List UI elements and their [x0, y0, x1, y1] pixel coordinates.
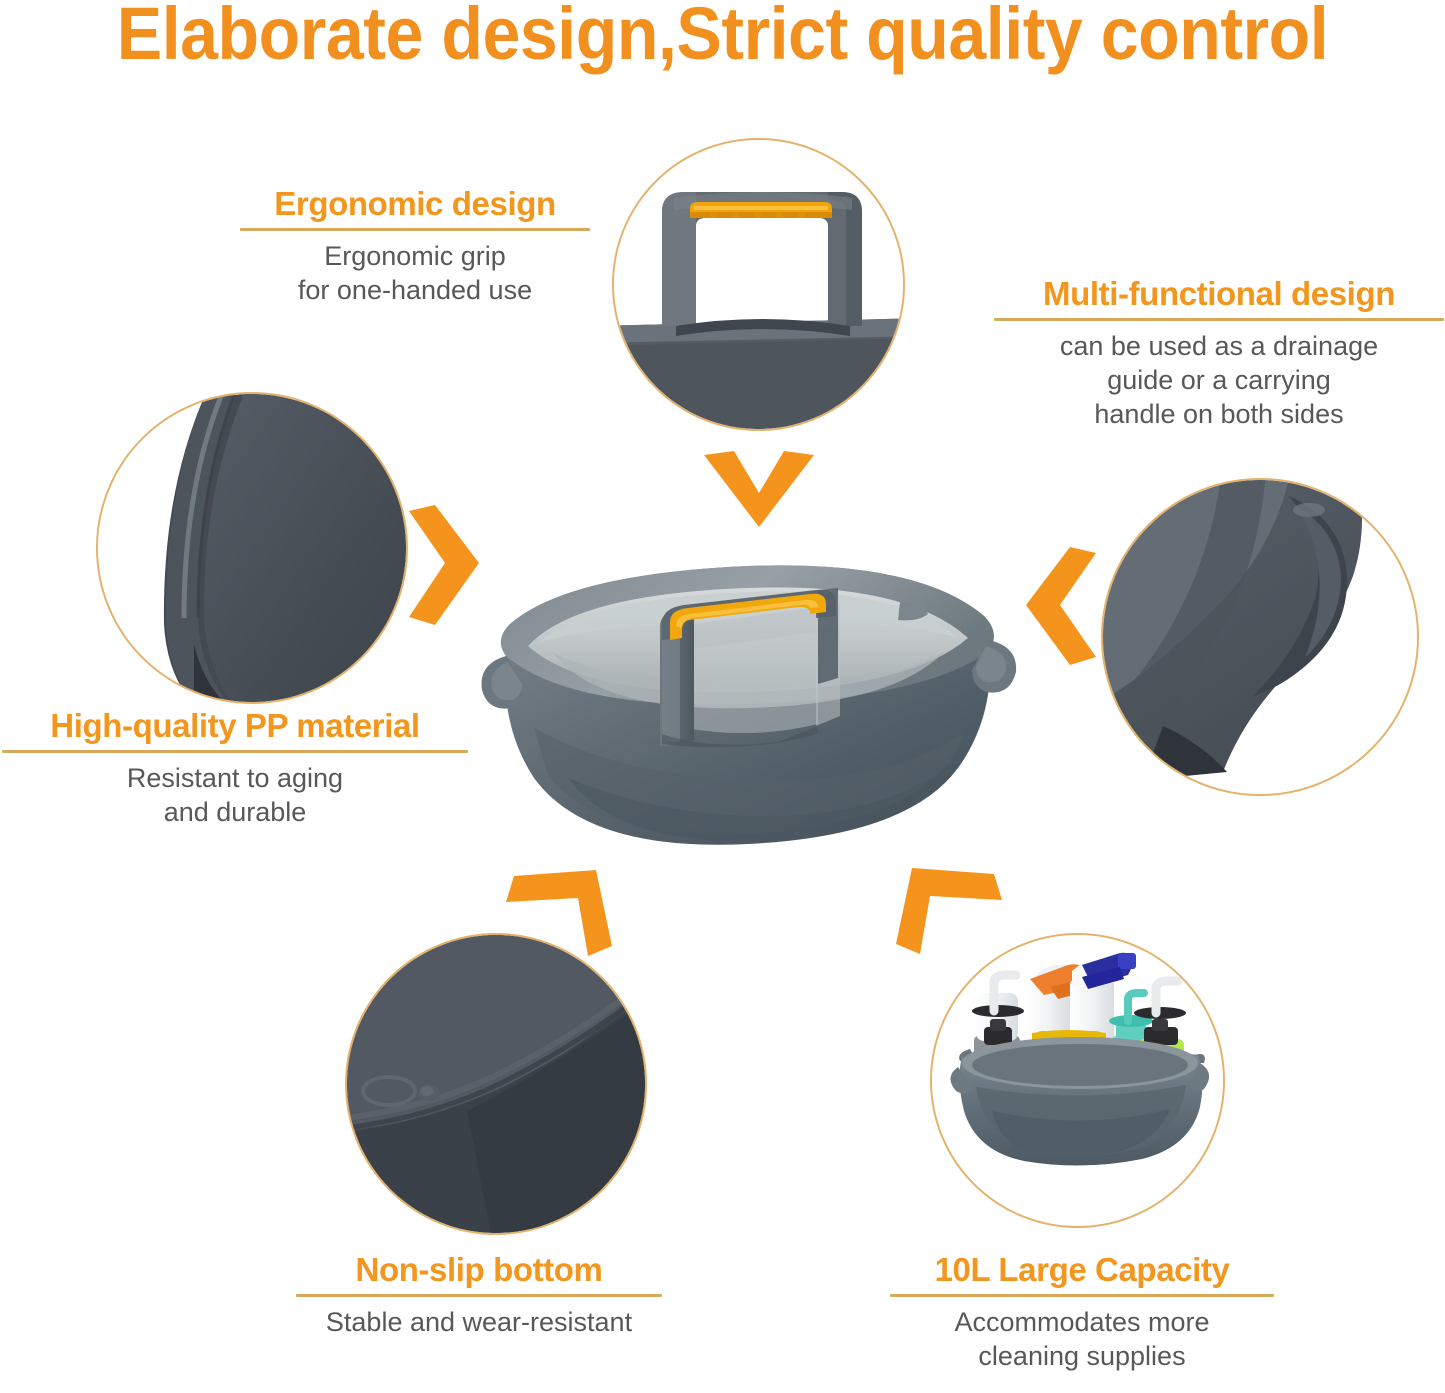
chevron-up-right-icon	[500, 868, 618, 960]
loaded-caddy-illustration	[932, 935, 1223, 1226]
arrow-to-hero-bottom-right	[890, 866, 1008, 958]
hero-product-illustration	[448, 528, 1036, 878]
feature-rule	[240, 228, 590, 231]
feature-rule	[2, 750, 468, 753]
feature-subtext-10l-large-capacity: Accommodates more cleaning supplies	[890, 1305, 1274, 1373]
feature-heading-non-slip-bottom: Non-slip bottom	[296, 1252, 662, 1289]
feature-heading-10l-large-capacity: 10L Large Capacity	[890, 1252, 1274, 1289]
feature-non-slip-bottom: Non-slip bottom Stable and wear-resistan…	[296, 1252, 662, 1339]
handle-closeup-illustration	[614, 140, 903, 429]
feature-heading-high-quality-pp-material: High-quality PP material	[2, 708, 468, 745]
caddy-divider-handle	[660, 588, 840, 747]
feature-multi-functional-design: Multi-functional design can be used as a…	[994, 276, 1444, 431]
feature-heading-ergonomic-design: Ergonomic design	[240, 186, 590, 223]
infographic-page: Elaborate design,Strict quality control	[0, 0, 1445, 1393]
chevron-right-icon	[405, 503, 483, 627]
feature-subtext-non-slip-bottom: Stable and wear-resistant	[296, 1305, 662, 1339]
arrow-to-hero-right	[1022, 545, 1100, 667]
photo-bubble-10l-large-capacity	[930, 933, 1225, 1228]
arrow-to-hero-bottom-left	[500, 868, 618, 960]
pp-rim-closeup-illustration	[98, 394, 406, 702]
page-title: Elaborate design,Strict quality control	[58, 0, 1387, 71]
photo-bubble-ergonomic-design	[612, 138, 905, 431]
feature-rule	[994, 318, 1444, 321]
photo-bubble-high-quality-pp-material	[96, 392, 408, 704]
feature-heading-multi-functional-design: Multi-functional design	[994, 276, 1444, 313]
feature-ergonomic-design: Ergonomic design Ergonomic grip for one-…	[240, 186, 590, 307]
arrow-to-hero-top	[698, 449, 820, 531]
chevron-left-icon	[1022, 545, 1100, 667]
nonslip-bottom-closeup-illustration	[347, 935, 645, 1233]
feature-high-quality-pp-material: High-quality PP material Resistant to ag…	[2, 708, 468, 829]
feature-subtext-multi-functional-design: can be used as a drainage guide or a car…	[994, 329, 1444, 431]
feature-rule	[296, 1294, 662, 1297]
feature-10l-large-capacity: 10L Large Capacity Accommodates more cle…	[890, 1252, 1274, 1373]
arrow-to-hero-left	[405, 503, 483, 627]
feature-subtext-ergonomic-design: Ergonomic grip for one-handed use	[240, 239, 590, 307]
chevron-up-left-icon	[890, 866, 1008, 958]
photo-bubble-multi-functional-design	[1101, 478, 1419, 796]
chevron-down-icon	[698, 449, 820, 531]
feature-rule	[890, 1294, 1274, 1297]
photo-bubble-non-slip-bottom	[345, 933, 647, 1235]
feature-subtext-high-quality-pp-material: Resistant to aging and durable	[2, 761, 468, 829]
spout-closeup-illustration	[1103, 480, 1417, 794]
